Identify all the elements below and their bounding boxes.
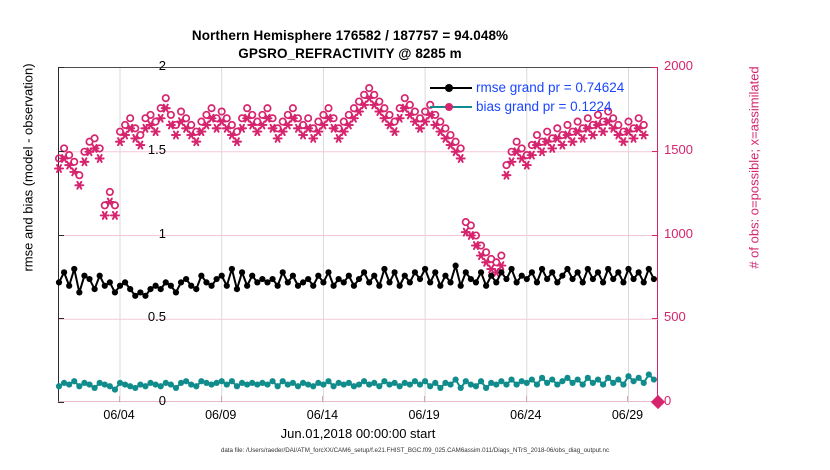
x-tick-label-3: 06/19	[384, 408, 464, 422]
x-tick-label-0: 06/04	[79, 408, 159, 422]
x-tick-mark-2	[322, 396, 323, 402]
y-tick-mark-4	[58, 67, 64, 68]
y2-tick-mark-3	[652, 151, 658, 152]
x-tick-label-1: 06/09	[181, 408, 261, 422]
y-tick-mark-0	[58, 402, 64, 403]
y2-tick-label-3: 1500	[664, 142, 724, 157]
legend-item-bias[interactable]: bias grand pr = 0.1224	[430, 97, 624, 116]
y-tick-label-2: 1	[116, 226, 166, 241]
x-tick-mark-1	[221, 396, 222, 402]
y-axis-label: rmse and bias (model - observation)	[21, 8, 36, 328]
y2-tick-label-2: 1000	[664, 226, 724, 241]
chart-title-line2: GPSRO_REFRACTIVITY @ 8285 m	[0, 46, 700, 61]
y-tick-mark-1	[58, 318, 64, 319]
legend-label-rmse: rmse grand pr = 0.74624	[476, 80, 624, 95]
legend: rmse grand pr = 0.74624 bias grand pr = …	[430, 78, 624, 116]
x-tick-label-4: 06/24	[486, 408, 566, 422]
y-tick-mark-3	[58, 151, 64, 152]
y2-axis-label: # of obs: o=possible; x=assimilated	[747, 8, 762, 328]
y-tick-mark-2	[58, 235, 64, 236]
y2-tick-mark-4	[652, 67, 658, 68]
x-tick-label-5: 06/29	[587, 408, 667, 422]
x-tick-mark-5	[627, 396, 628, 402]
x-tick-mark-3	[424, 396, 425, 402]
y-tick-label-4: 2	[116, 58, 166, 73]
legend-label-bias: bias grand pr = 0.1224	[476, 99, 611, 114]
y-tick-label-0: 0	[116, 393, 166, 408]
y-tick-label-1: 0.5	[116, 309, 166, 324]
legend-item-rmse[interactable]: rmse grand pr = 0.74624	[430, 78, 624, 97]
legend-swatch-bias	[430, 100, 472, 114]
x-tick-mark-4	[526, 396, 527, 402]
legend-swatch-rmse	[430, 81, 472, 95]
chart-title-line1: Northern Hemisphere 176582 / 187757 = 94…	[0, 28, 700, 43]
y2-tick-label-1: 500	[664, 309, 724, 324]
data-file-footer: data file: /Users/raeder/DAI/ATM_forcXX/…	[0, 447, 830, 454]
x-tick-mark-0	[119, 396, 120, 402]
x-axis-label: Jun.01,2018 00:00:00 start	[58, 426, 658, 441]
y2-tick-mark-1	[652, 318, 658, 319]
y2-tick-mark-2	[652, 235, 658, 236]
y-tick-label-3: 1.5	[116, 142, 166, 157]
y2-tick-label-0: 0	[664, 393, 724, 408]
x-tick-label-2: 06/14	[282, 408, 362, 422]
chart-page: Northern Hemisphere 176582 / 187757 = 94…	[0, 0, 830, 470]
y2-tick-label-4: 2000	[664, 58, 724, 73]
